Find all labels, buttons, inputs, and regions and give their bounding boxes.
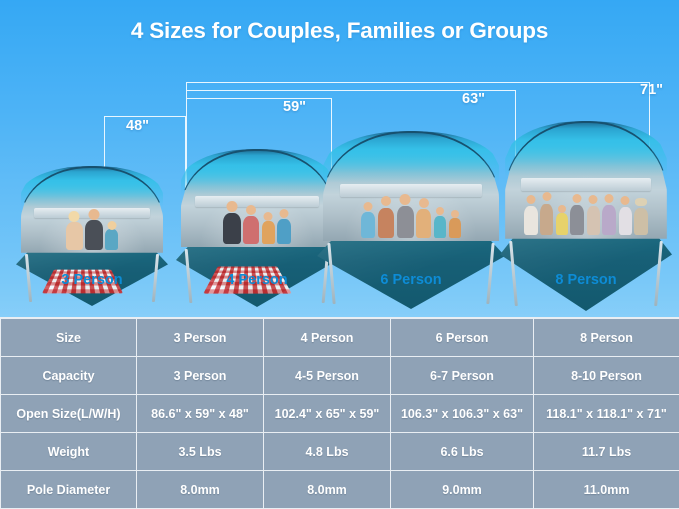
table-cell: 86.6" x 59" x 48" [137, 395, 264, 433]
table-cell: 4 Person [264, 318, 391, 357]
occupant-head [419, 198, 429, 208]
occupant-head [280, 209, 289, 218]
occupant-head [436, 207, 444, 215]
occupant [85, 220, 103, 250]
size-caption-4person: 4 Person [176, 272, 338, 288]
tent-occupants [197, 190, 317, 244]
table-cell: 8.0mm [137, 471, 264, 509]
table-cell: 6 Person [391, 318, 534, 357]
occupant [397, 206, 414, 238]
occupant-head [364, 202, 373, 211]
occupant [105, 229, 118, 250]
table-row: Pole Diameter 8.0mm 8.0mm 9.0mm 11.0mm [1, 471, 679, 509]
occupant-head [558, 205, 566, 213]
occupant-head [226, 201, 237, 212]
table-cell: 4.8 Lbs [264, 433, 391, 471]
occupant-head [573, 194, 582, 203]
size-caption-3person: 3 Person [16, 272, 168, 288]
spec-table: Size 3 Person 4 Person 6 Person 8 Person… [0, 317, 679, 509]
occupant-head [635, 198, 647, 206]
spec-table-body: Size 3 Person 4 Person 6 Person 8 Person… [1, 318, 679, 509]
table-cell: 106.3" x 106.3" x 63" [391, 395, 534, 433]
occupant [434, 216, 446, 238]
occupant-head [451, 210, 459, 218]
table-row: Capacity 3 Person 4-5 Person 6-7 Person … [1, 357, 679, 395]
tent-occupants [36, 202, 148, 250]
table-cell: 118.1" x 118.1" x 71" [534, 395, 679, 433]
page-title: 4 Sizes for Couples, Families or Groups [0, 18, 679, 44]
table-cell: 3.5 Lbs [137, 433, 264, 471]
occupant [416, 209, 431, 238]
occupant [540, 204, 553, 235]
size-caption-8person: 8 Person [500, 272, 672, 288]
table-cell: 6-7 Person [391, 357, 534, 395]
occupant-head [107, 221, 116, 230]
occupant [570, 205, 584, 235]
table-cell: 8.0mm [264, 471, 391, 509]
occupant [378, 208, 394, 238]
occupant-head [400, 194, 411, 205]
table-cell: 102.4" x 65" x 59" [264, 395, 391, 433]
occupant [66, 222, 83, 250]
infographic-page: 4 Sizes for Couples, Families or Groups … [0, 0, 679, 509]
occupant [361, 212, 375, 238]
table-cell: 8-10 Person [534, 357, 679, 395]
row-header: Pole Diameter [1, 471, 137, 509]
occupant-head [246, 205, 256, 215]
row-header: Weight [1, 433, 137, 471]
occupant [587, 206, 600, 235]
table-cell: 4-5 Person [264, 357, 391, 395]
occupant [449, 218, 461, 238]
tent-occupants [522, 170, 649, 235]
row-header: Open Size(L/W/H) [1, 395, 137, 433]
table-cell: 11.0mm [534, 471, 679, 509]
occupant [262, 221, 275, 244]
occupant-head [542, 192, 551, 201]
occupant [619, 207, 632, 235]
occupant-head [605, 194, 614, 203]
occupant [634, 208, 648, 235]
table-row: Size 3 Person 4 Person 6 Person 8 Person [1, 318, 679, 357]
occupant-head [526, 195, 535, 204]
table-cell: 3 Person [137, 357, 264, 395]
row-header: Capacity [1, 357, 137, 395]
occupant [243, 216, 259, 244]
occupant-head [621, 196, 630, 205]
tent-occupants [341, 177, 480, 238]
table-cell: 3 Person [137, 318, 264, 357]
occupant [277, 219, 291, 244]
table-row: Weight 3.5 Lbs 4.8 Lbs 6.6 Lbs 11.7 Lbs [1, 433, 679, 471]
occupant-head [69, 211, 80, 222]
table-cell: 6.6 Lbs [391, 433, 534, 471]
table-row: Open Size(L/W/H) 86.6" x 59" x 48" 102.4… [1, 395, 679, 433]
occupant-head [88, 209, 99, 220]
occupant-head [381, 196, 391, 206]
row-header: Size [1, 318, 137, 357]
occupant-head [264, 212, 273, 221]
occupant [556, 213, 568, 235]
table-cell: 8 Person [534, 318, 679, 357]
occupant [524, 206, 538, 235]
occupant [602, 205, 616, 235]
size-caption-6person: 6 Person [317, 272, 505, 288]
occupant [223, 213, 241, 244]
table-cell: 11.7 Lbs [534, 433, 679, 471]
occupant-head [589, 195, 598, 204]
table-cell: 9.0mm [391, 471, 534, 509]
